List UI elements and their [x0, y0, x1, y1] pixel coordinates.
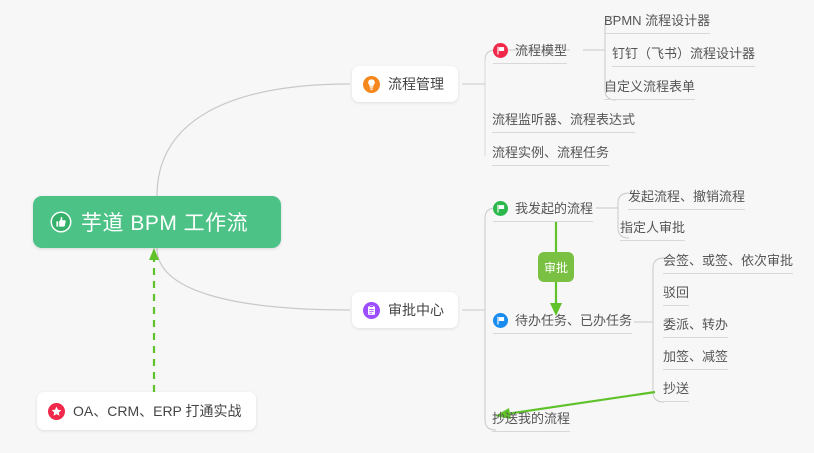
root-node[interactable]: 芋道 BPM 工作流	[33, 196, 281, 248]
leaf-custom-form[interactable]: 自定义流程表单	[604, 78, 695, 100]
flag-icon	[493, 313, 508, 328]
leaf-cc-to-me[interactable]: 抄送我的流程	[492, 410, 570, 432]
node-label: 流程模型	[515, 42, 567, 59]
wire-root-to-process-management	[157, 84, 350, 196]
leaf-countersign[interactable]: 会签、或签、依次审批	[663, 252, 793, 274]
lightbulb-icon	[363, 76, 380, 93]
wire-root-to-approval-center	[157, 248, 350, 310]
node-label: 待办任务、已办任务	[515, 312, 632, 329]
leaf-reject[interactable]: 驳回	[663, 284, 689, 306]
note-label: OA、CRM、ERP 打通实战	[73, 401, 242, 421]
node-my-initiated[interactable]: 我发起的流程	[493, 200, 593, 222]
leaf-bpmn-designer[interactable]: BPMN 流程设计器	[604, 12, 710, 34]
node-todo-done-tasks[interactable]: 待办任务、已办任务	[493, 312, 632, 334]
branch-label: 审批中心	[388, 300, 444, 320]
flag-icon	[493, 43, 508, 58]
clipboard-icon	[363, 302, 380, 319]
thumbs-up-icon	[50, 211, 72, 233]
leaf-carbon-copy[interactable]: 抄送	[663, 380, 689, 402]
branch-process-management[interactable]: 流程管理	[352, 66, 458, 102]
node-process-model[interactable]: 流程模型	[493, 42, 567, 64]
leaf-start-cancel-process[interactable]: 发起流程、撤销流程	[628, 188, 745, 210]
leaf-listener-expression[interactable]: 流程监听器、流程表达式	[492, 111, 635, 133]
badge-approval: 审批	[538, 252, 574, 282]
dashed-arrow-note-to-root	[149, 248, 159, 392]
star-icon	[48, 403, 65, 420]
flag-icon	[493, 201, 508, 216]
leaf-assignee-approval[interactable]: 指定人审批	[620, 219, 685, 241]
leaf-instance-task[interactable]: 流程实例、流程任务	[492, 144, 609, 166]
root-label: 芋道 BPM 工作流	[81, 207, 248, 237]
leaf-add-remove-sign[interactable]: 加签、减签	[663, 348, 728, 370]
node-label: 我发起的流程	[515, 200, 593, 217]
note-card[interactable]: OA、CRM、ERP 打通实战	[37, 392, 256, 430]
branch-label: 流程管理	[388, 74, 444, 94]
leaf-dingtalk-designer[interactable]: 钉钉（飞书）流程设计器	[612, 45, 755, 67]
branch-approval-center[interactable]: 审批中心	[352, 292, 458, 328]
leaf-delegate-transfer[interactable]: 委派、转办	[663, 316, 728, 338]
mindmap-canvas: 芋道 BPM 工作流 OA、CRM、ERP 打通实战 流程管理	[0, 0, 814, 453]
